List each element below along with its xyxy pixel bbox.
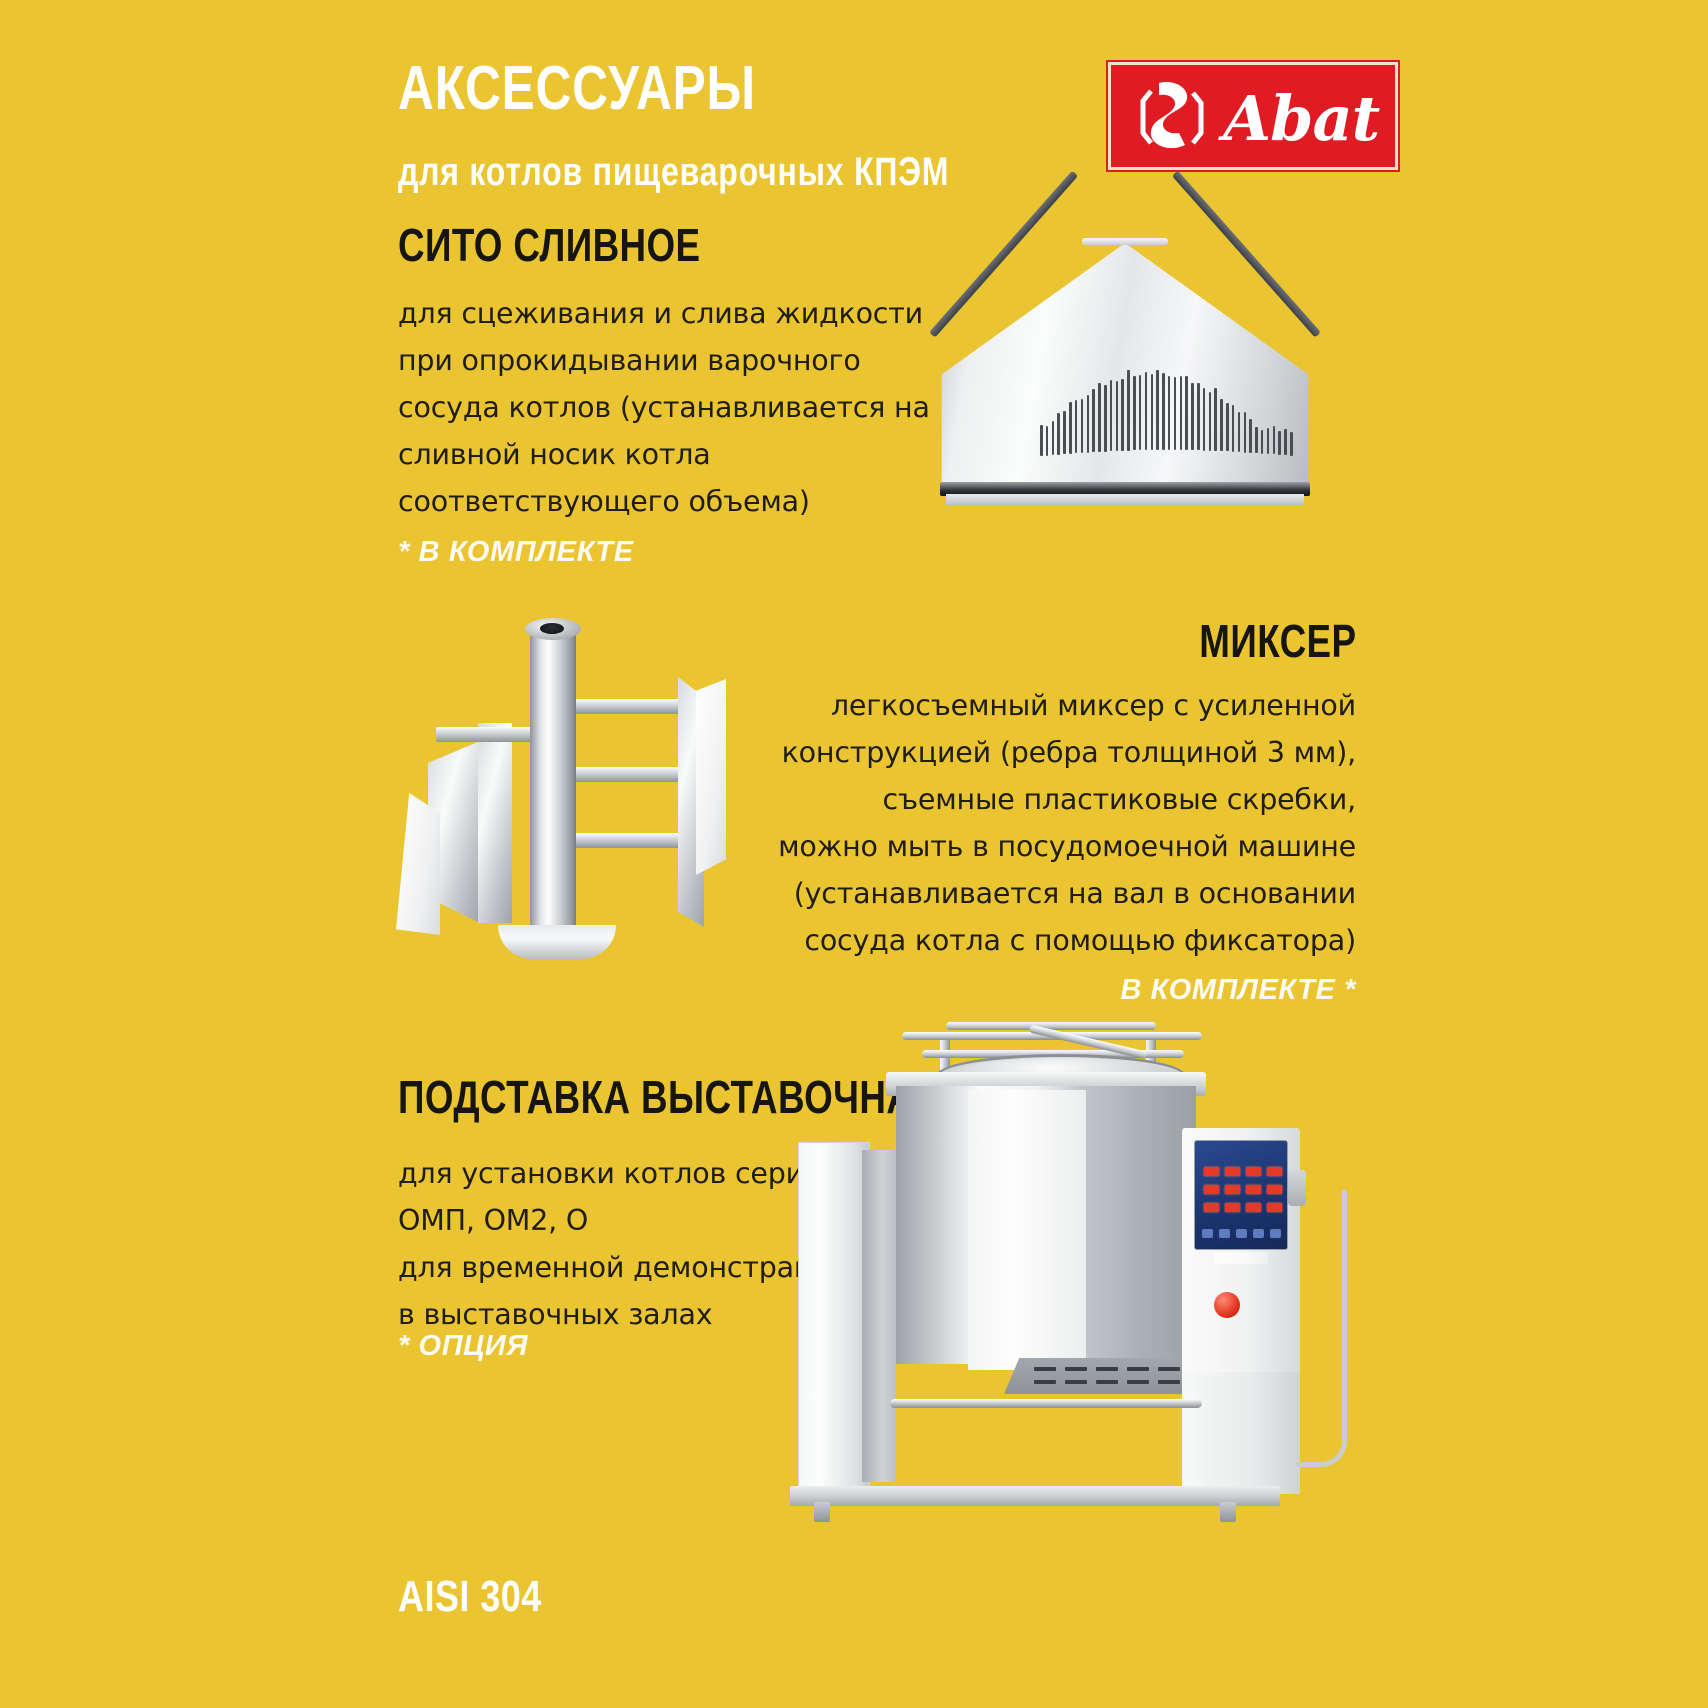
body-line: сливной носик котла xyxy=(398,431,918,478)
section-note-mikser: В КОМПЛЕКТЕ * xyxy=(1120,974,1356,1007)
section-body-mikser: легкосъемный миксер с усиленной конструк… xyxy=(756,682,1356,964)
display-stand-kettle-photo xyxy=(790,1020,1350,1520)
section-note-podstavka: * ОПЦИЯ xyxy=(398,1330,528,1363)
section-title-mikser: МИКСЕР xyxy=(1199,618,1356,664)
section-body-podstavka: для установки котлов серии ОМП, ОМ2, О д… xyxy=(398,1150,858,1338)
page-subtitle: для котлов пищеварочных КПЭМ xyxy=(398,152,949,192)
kettle-panel-brand xyxy=(1214,1252,1268,1264)
section-note-sito: * В КОМПЛЕКТЕ xyxy=(398,536,634,569)
poster-canvas: АКСЕССУАРЫ для котлов пищеварочных КПЭМ … xyxy=(0,0,1708,1708)
body-line: для временной демонстрации xyxy=(398,1244,858,1291)
section-body-sito: для сцеживания и слива жидкости при опро… xyxy=(398,290,918,525)
body-line: соответствующего объема) xyxy=(398,478,918,525)
abat-logo: Abat xyxy=(1108,62,1398,170)
kettle-control-screen[interactable] xyxy=(1194,1140,1288,1250)
body-line: (устанавливается на вал в основании xyxy=(756,870,1356,917)
section-title-sito: СИТО СЛИВНОЕ xyxy=(398,222,701,268)
sieve-slots xyxy=(1040,358,1290,456)
abat-s-emblem-icon xyxy=(1129,77,1215,161)
body-line: сосуда котлов (устанавливается на xyxy=(398,384,918,431)
body-line: при опрокидывании варочного xyxy=(398,337,918,384)
emergency-stop-button[interactable] xyxy=(1214,1292,1240,1318)
body-line: сосуда котла с помощью фиксатора) xyxy=(756,917,1356,964)
drain-sieve-photo xyxy=(930,238,1320,486)
kettle-cable xyxy=(1296,1190,1347,1467)
body-line: для установки котлов серии xyxy=(398,1150,858,1197)
body-line: съемные пластиковые скребки, xyxy=(756,776,1356,823)
material-label: AISI 304 xyxy=(398,1572,542,1622)
kettle-vent xyxy=(1004,1358,1194,1394)
body-line: легкосъемный миксер с усиленной xyxy=(756,682,1356,729)
body-line: конструкцией (ребра толщиной 3 мм), xyxy=(756,729,1356,776)
mixer-photo xyxy=(370,615,730,955)
page-title: АКСЕССУАРЫ xyxy=(398,58,756,120)
body-line: для сцеживания и слива жидкости xyxy=(398,290,918,337)
body-line: ОМП, ОМ2, О xyxy=(398,1197,858,1244)
abat-logo-wordmark: Abat xyxy=(1223,75,1379,163)
body-line: можно мыть в посудомоечной машине xyxy=(756,823,1356,870)
